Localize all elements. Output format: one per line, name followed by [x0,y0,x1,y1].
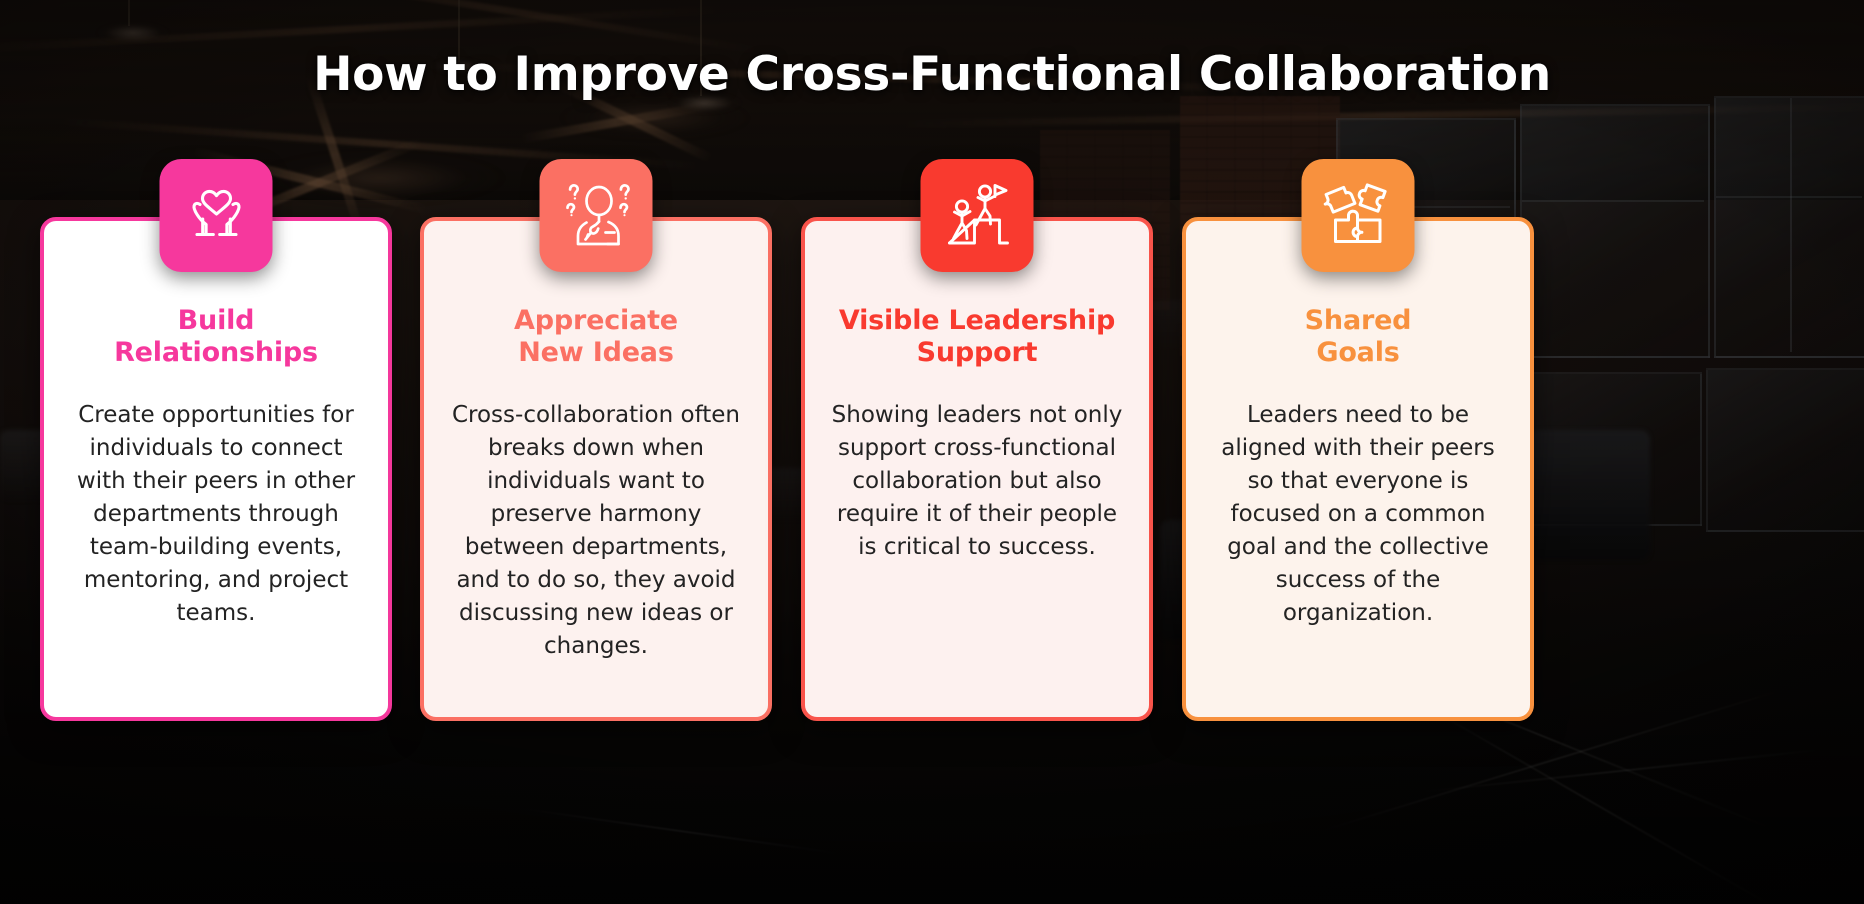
puzzle-pieces-icon [1302,159,1415,272]
card-title: Build Relationships [100,305,332,369]
card-body-text: Cross-collaboration often breaks down wh… [424,399,768,664]
card-appreciate-new-ideas[interactable]: Appreciate New Ideas Cross-collaboration… [420,217,772,721]
hands-holding-heart-icon [160,159,273,272]
card-title: Visible Leadership Support [825,305,1129,369]
cards-row: Build Relationships Create opportunities… [0,0,1864,904]
card-body-text: Leaders need to be aligned with their pe… [1186,399,1530,631]
card-shared-goals[interactable]: Shared Goals Leaders need to be aligned … [1182,217,1534,721]
card-visible-leadership-support[interactable]: Visible Leadership Support Showing leade… [801,217,1153,721]
thinking-person-questions-icon [540,159,653,272]
climbing-leader-flag-icon [921,159,1034,272]
card-title: Shared Goals [1291,305,1426,369]
card-title: Appreciate New Ideas [500,305,692,369]
card-body-text: Showing leaders not only support cross-f… [805,399,1149,565]
infographic-canvas: How to Improve Cross-Functional Collabor… [0,0,1864,904]
card-build-relationships[interactable]: Build Relationships Create opportunities… [40,217,392,721]
card-body-text: Create opportunities for individuals to … [44,399,388,631]
